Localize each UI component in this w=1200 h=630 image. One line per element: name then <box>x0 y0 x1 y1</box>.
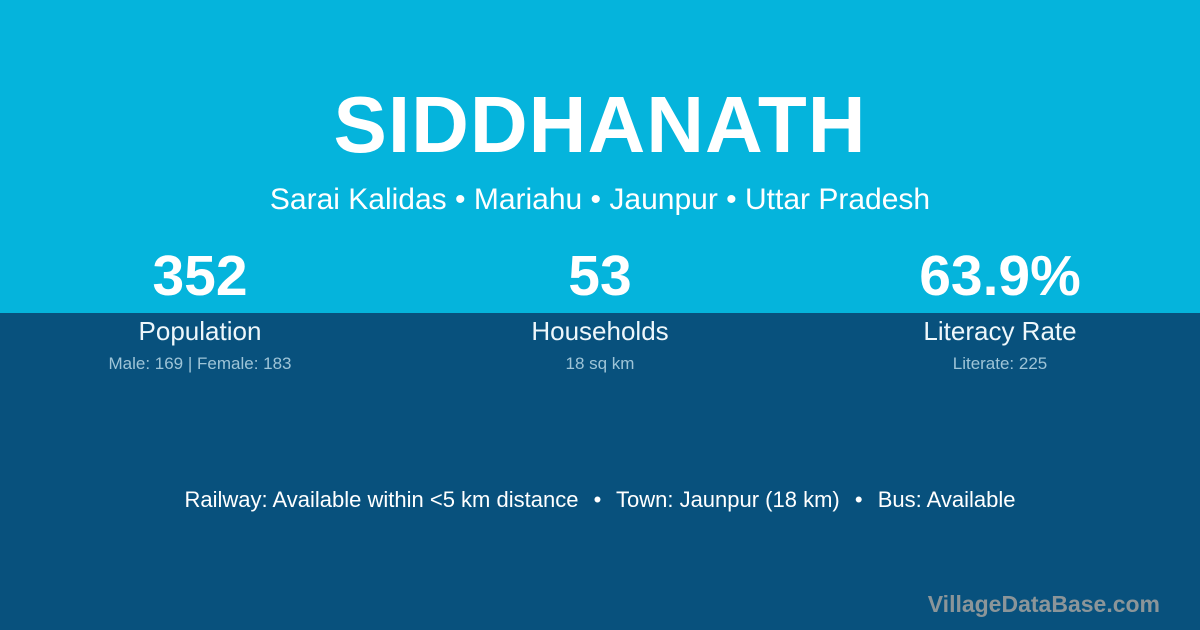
facility-bus: Bus: Available <box>878 487 1016 512</box>
stat-value-literacy-rate: 63.9% <box>800 240 1200 312</box>
stat-sub-population: Male: 169 | Female: 183 <box>0 352 400 376</box>
stats-row: 352 Population Male: 169 | Female: 183 5… <box>0 240 1200 376</box>
stat-label-households: Households <box>400 314 800 348</box>
stat-population: 352 Population Male: 169 | Female: 183 <box>0 240 400 376</box>
site-watermark: VillageDataBase.com <box>928 589 1160 619</box>
stat-households: 53 Households 18 sq km <box>400 240 800 376</box>
village-info-card: SIDDHANATH Sarai Kalidas • Mariahu • Jau… <box>0 0 1200 630</box>
facilities-line: Railway: Available within <5 km distance… <box>0 485 1200 515</box>
facility-separator-icon: • <box>585 485 611 515</box>
stat-label-literacy-rate: Literacy Rate <box>800 314 1200 348</box>
stat-label-population: Population <box>0 314 400 348</box>
facility-railway: Railway: Available within <5 km distance <box>184 487 578 512</box>
stat-literacy-rate: 63.9% Literacy Rate Literate: 225 <box>800 240 1200 376</box>
stat-sub-literacy-rate: Literate: 225 <box>800 352 1200 376</box>
page-title: SIDDHANATH <box>0 82 1200 168</box>
facility-town: Town: Jaunpur (18 km) <box>616 487 840 512</box>
facility-separator-icon: • <box>846 485 872 515</box>
breadcrumb: Sarai Kalidas • Mariahu • Jaunpur • Utta… <box>0 182 1200 218</box>
stat-sub-households: 18 sq km <box>400 352 800 376</box>
stat-value-population: 352 <box>0 240 400 312</box>
stat-value-households: 53 <box>400 240 800 312</box>
